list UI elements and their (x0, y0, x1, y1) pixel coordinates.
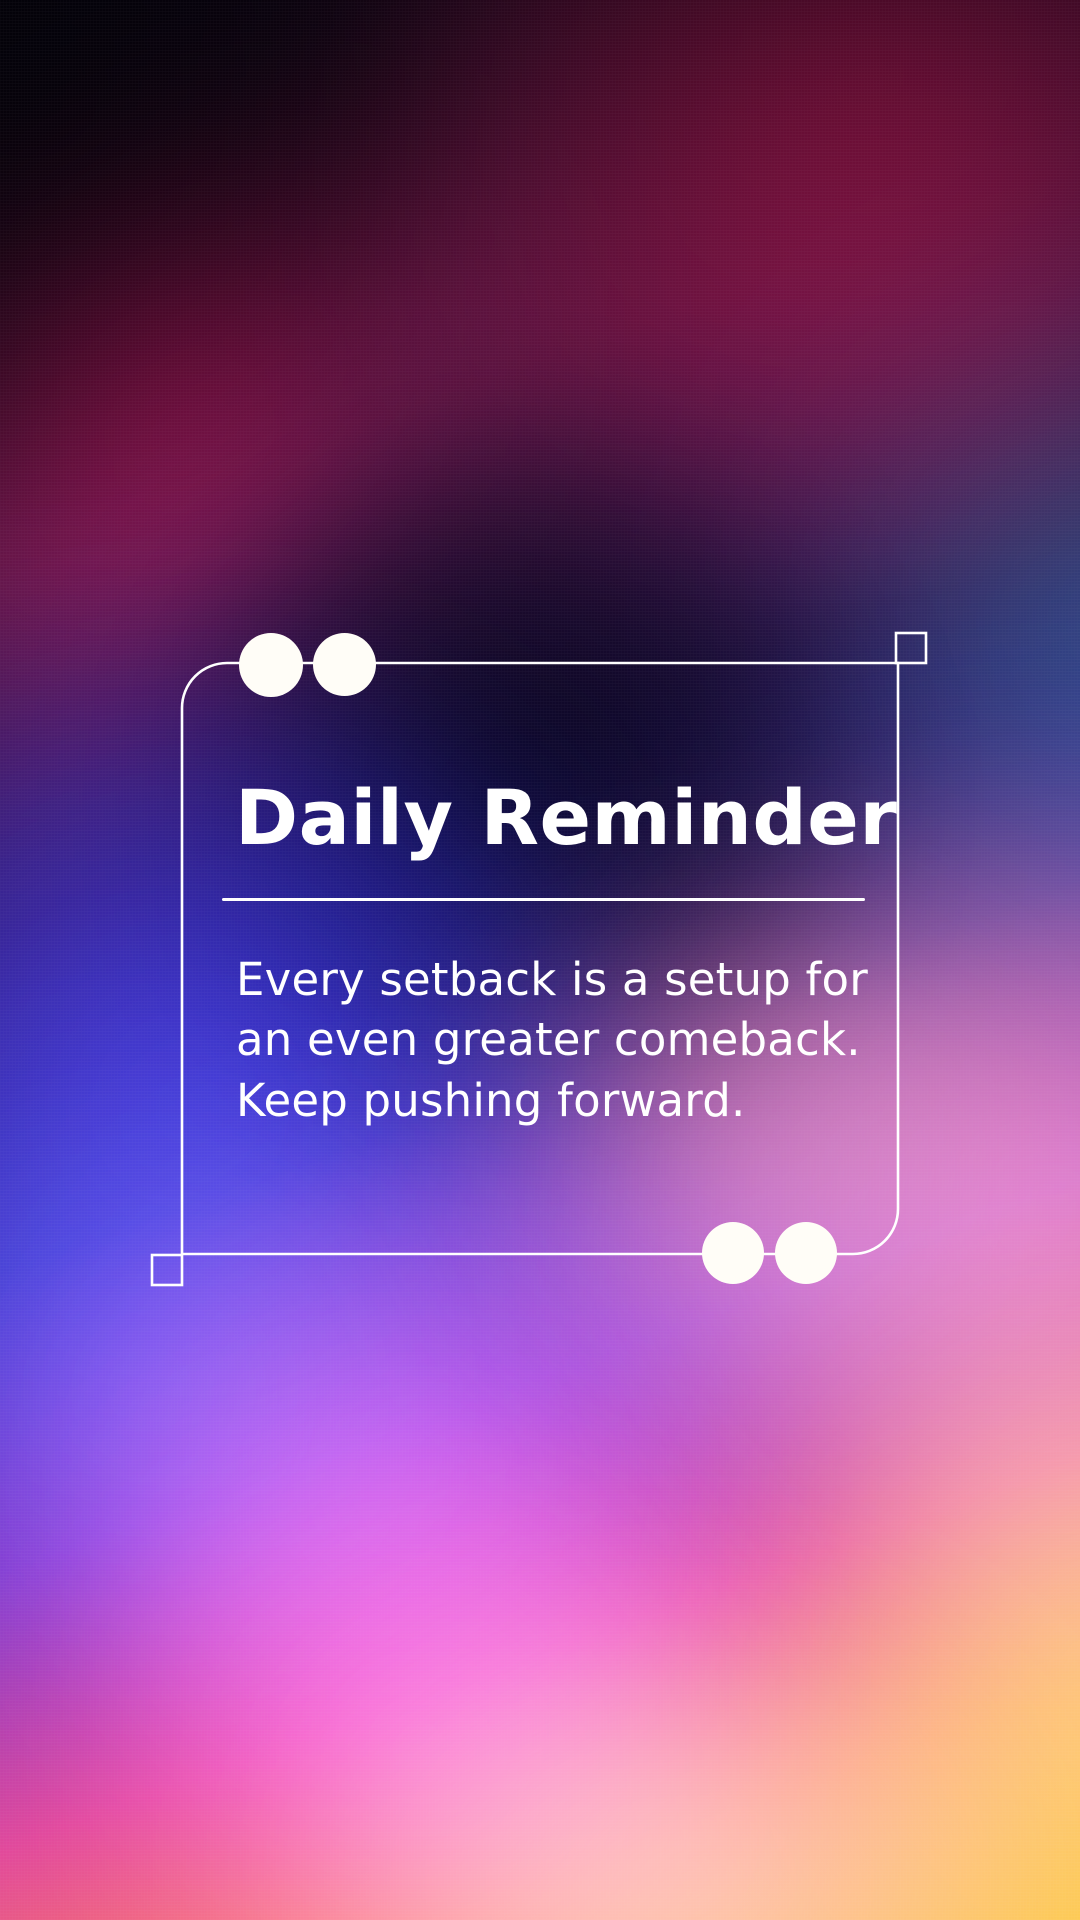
quote-line-3: Keep pushing forward. (236, 1071, 882, 1131)
background-vignette-top (0, 0, 1080, 560)
card-content: Daily Reminder Every setback is a setup … (222, 780, 882, 1131)
quote-line-1: Every setback is a setup for (236, 950, 882, 1010)
page-title: Daily Reminder (222, 780, 882, 856)
quote-text: Every setback is a setup for an even gre… (222, 950, 882, 1131)
title-divider (222, 898, 865, 901)
poster-canvas: Daily Reminder Every setback is a setup … (0, 0, 1080, 1920)
quote-line-2: an even greater comeback. (236, 1010, 882, 1070)
